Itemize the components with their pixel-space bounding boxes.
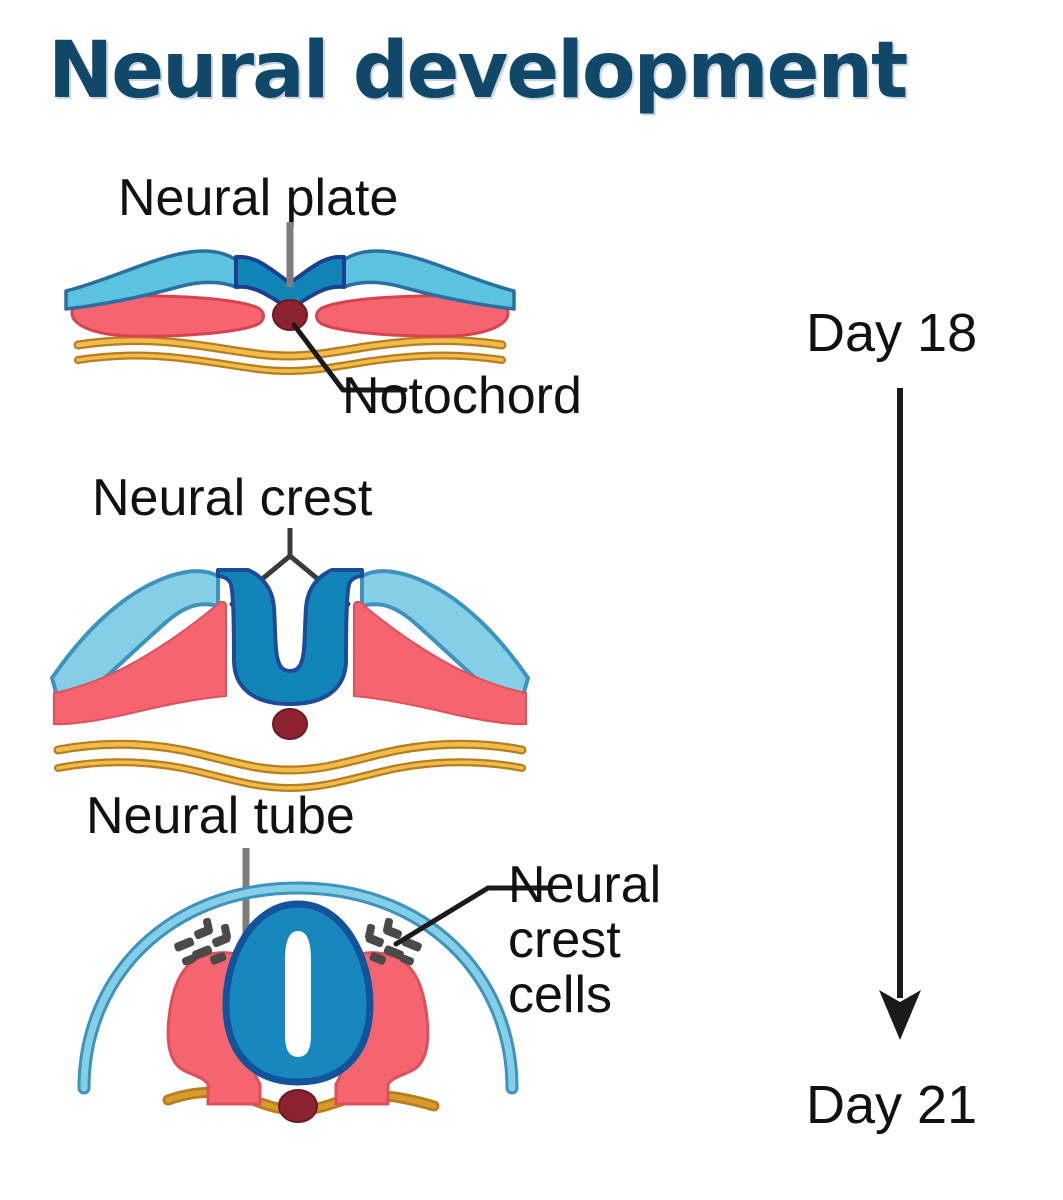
page-title: Neural development bbox=[48, 26, 906, 116]
label-neural-crest-cells-line1: Neural bbox=[508, 858, 758, 913]
label-neural-crest-cells: Neural crest cells bbox=[508, 858, 758, 1023]
label-notochord: Notochord bbox=[342, 370, 582, 423]
timeline-arrow bbox=[860, 388, 940, 1048]
label-neural-crest-cells-line2: crest bbox=[508, 913, 758, 968]
label-neural-crest-cells-line3: cells bbox=[508, 968, 758, 1023]
label-neural-tube: Neural tube bbox=[86, 790, 355, 843]
neural-groove bbox=[218, 570, 362, 704]
notochord-dot bbox=[273, 300, 307, 330]
stage-2-diagram bbox=[50, 528, 530, 798]
notochord-dot bbox=[273, 709, 307, 739]
endoderm-line-outer bbox=[58, 744, 522, 770]
timeline-end-label: Day 21 bbox=[806, 1074, 977, 1136]
timeline-start-label: Day 18 bbox=[806, 302, 977, 364]
stage-1-diagram bbox=[60, 225, 520, 385]
label-neural-crest: Neural crest bbox=[92, 472, 372, 525]
neural-canal-lumen bbox=[286, 932, 310, 1056]
label-neural-plate: Neural plate bbox=[118, 172, 398, 225]
notochord-dot bbox=[279, 1090, 317, 1122]
stage-3-diagram bbox=[58, 848, 538, 1148]
figure-root: Neural development Neural plate Notochor… bbox=[0, 0, 1063, 1200]
